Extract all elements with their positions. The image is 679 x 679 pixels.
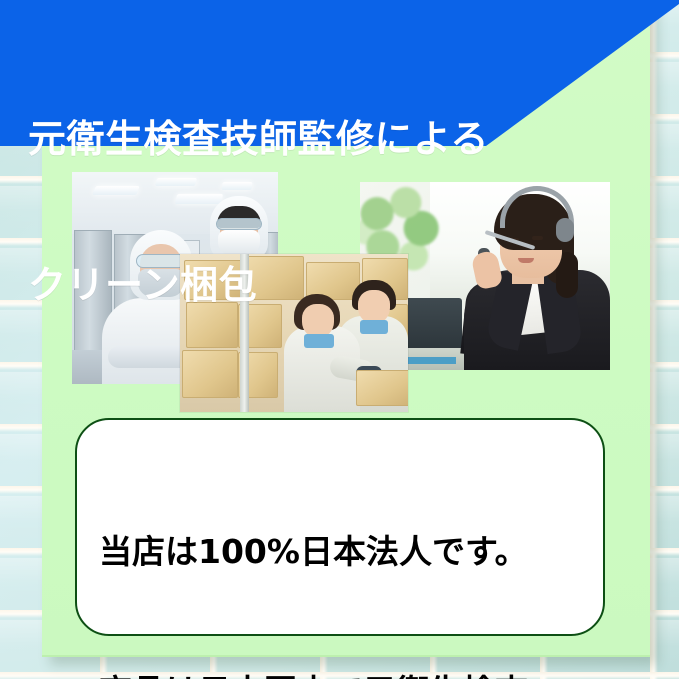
operator-eye-right (532, 236, 543, 240)
operator-mouth (518, 258, 534, 263)
statement-box: 当店は100%日本法人です。 商品は日本国内で元衛生検査 技師監修によるクリーン… (75, 418, 605, 636)
headset-earcup (556, 218, 574, 242)
header-title-line-2: クリーン梱包 (28, 261, 489, 310)
statement-text: 当店は100%日本法人です。 商品は日本国内で元衛生検査 技師監修によるクリーン… (99, 436, 591, 679)
promo-banner-root: 元衛生検査技師監修による クリーン梱包 当店は100%日本法人です。 商品は日本… (0, 0, 679, 679)
statement-line-2: 商品は日本国内で元衛生検査 (99, 669, 591, 679)
header-title: 元衛生検査技師監修による クリーン梱包 (28, 18, 489, 407)
header-title-line-1: 元衛生検査技師監修による (28, 115, 489, 164)
statement-line-1: 当店は100%日本法人です。 (99, 529, 591, 576)
